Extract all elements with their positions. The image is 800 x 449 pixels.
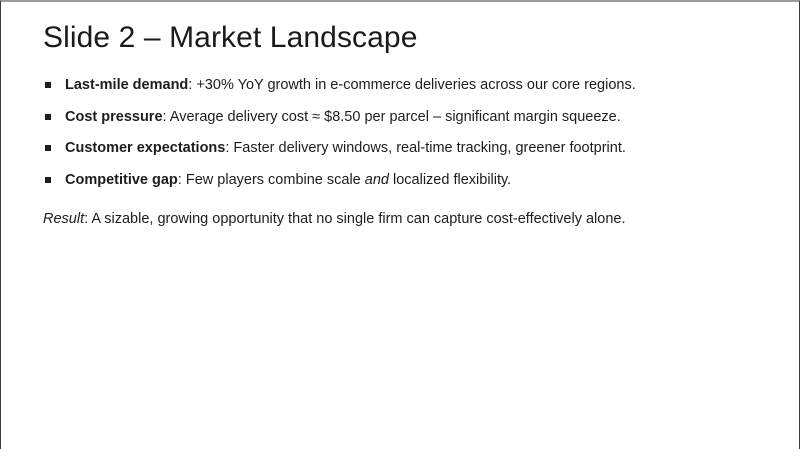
bullet-separator: : [178, 172, 186, 188]
square-bullet-icon [45, 177, 51, 183]
bullet-separator: : [163, 109, 170, 125]
bullet-text-after-emphasis: localized flexibility. [389, 172, 511, 188]
bullet-emphasis: and [365, 172, 389, 188]
square-bullet-icon [45, 82, 51, 88]
result-text: A sizable, growing opportunity that no s… [91, 211, 625, 227]
square-bullet-icon [45, 114, 51, 120]
bullet-lead-label: Last-mile demand [65, 77, 188, 93]
list-item: Customer expectations: Faster delivery w… [43, 139, 759, 159]
page-title: Slide 2 – Market Landscape [43, 20, 759, 56]
bullet-lead-label: Customer expectations [65, 140, 225, 156]
result-statement: Result: A sizable, growing opportunity t… [43, 210, 759, 230]
bullet-lead-label: Competitive gap [65, 172, 178, 188]
result-lead-label: Result [43, 211, 84, 227]
bullet-text: +30% YoY growth in e-commerce deliveries… [196, 77, 635, 93]
bullet-text: Faster delivery windows, real-time track… [233, 140, 625, 156]
bullet-lead-label: Cost pressure [65, 109, 163, 125]
list-item: Competitive gap: Few players combine sca… [43, 171, 759, 191]
bullet-text-before-emphasis: Few players combine scale [186, 172, 365, 188]
bullet-list: Last-mile demand: +30% YoY growth in e-c… [43, 76, 759, 190]
slide-content: Slide 2 – Market Landscape Last-mile dem… [43, 20, 759, 244]
bullet-text: Average delivery cost ≈ $8.50 per parcel… [170, 109, 621, 125]
slide-canvas: Slide 2 – Market Landscape Last-mile dem… [0, 0, 800, 449]
list-item: Cost pressure: Average delivery cost ≈ $… [43, 108, 759, 128]
list-item: Last-mile demand: +30% YoY growth in e-c… [43, 76, 759, 96]
square-bullet-icon [45, 145, 51, 151]
